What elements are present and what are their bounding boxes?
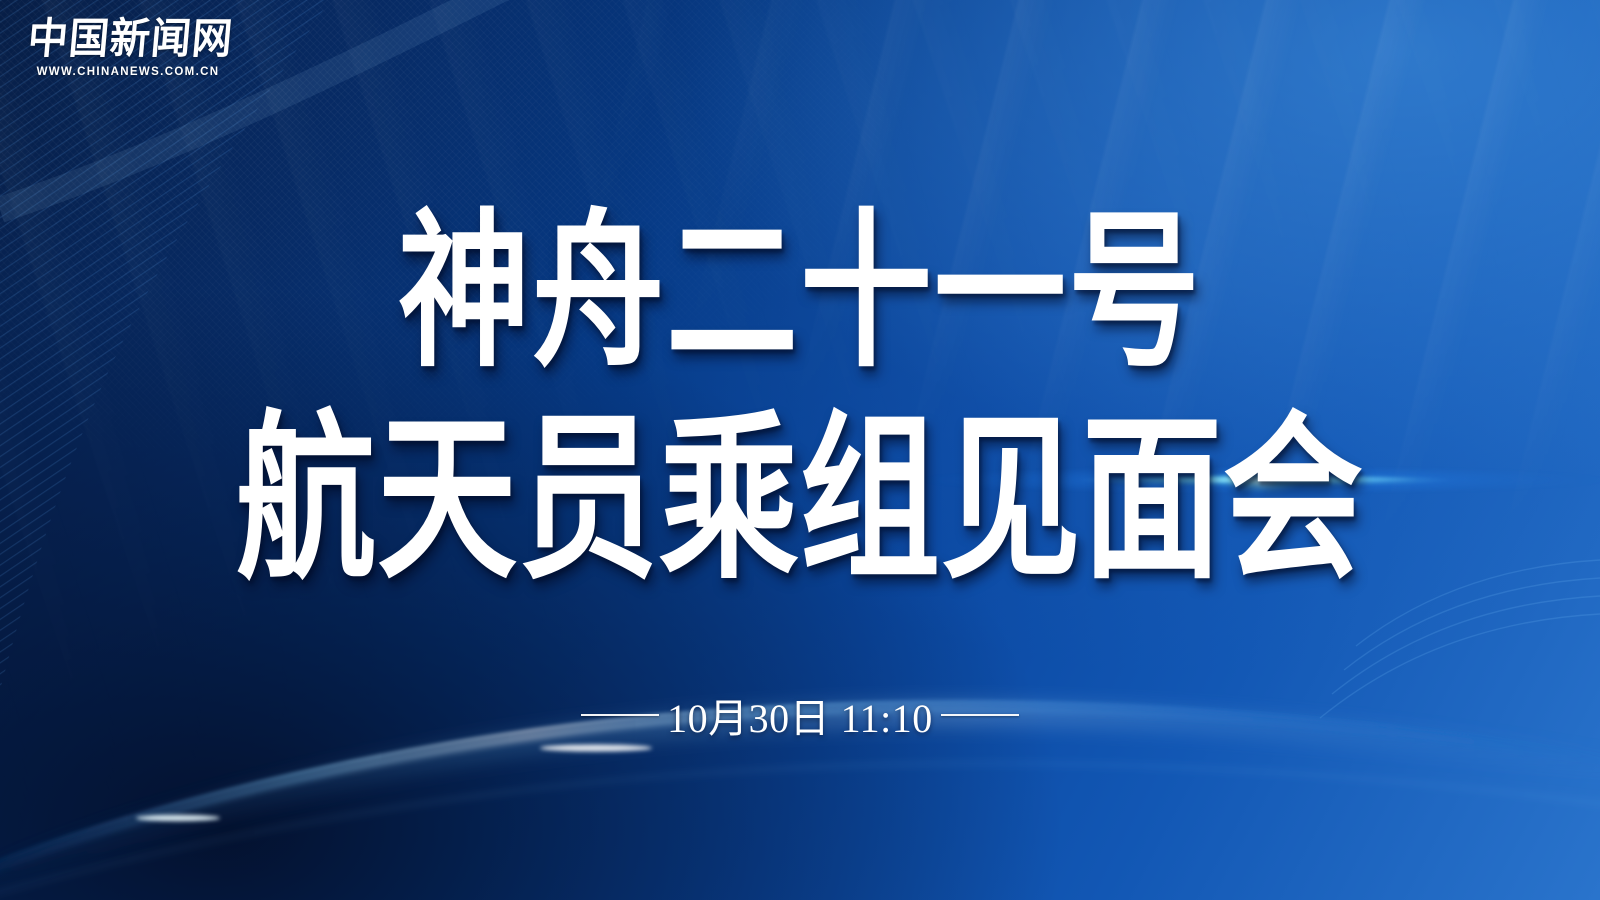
schedule-datetime: 10月30日 11:10 (667, 686, 933, 744)
rule-right (941, 714, 1019, 716)
logo-chinese-name: 中国新闻网 (26, 17, 230, 62)
headline-block: 神舟二十一号 航天员乘组见面会 (0, 208, 1600, 550)
poster-canvas: 中国新闻网 WWW.CHINANEWS.COM.CN 神舟二十一号 航天员乘组见… (0, 0, 1600, 900)
arc-highlight-center (540, 744, 652, 751)
arc-highlight-left (136, 815, 220, 821)
rule-left (581, 714, 659, 716)
logo-website-url: WWW.CHINANEWS.COM.CN (28, 66, 228, 78)
schedule-bar: 10月30日 11:10 (0, 686, 1600, 744)
chinanews-logo: 中国新闻网 WWW.CHINANEWS.COM.CN (28, 18, 228, 78)
headline-line-1: 神舟二十一号 (0, 208, 1600, 377)
headline-line-2: 航天员乘组见面会 (0, 410, 1600, 589)
